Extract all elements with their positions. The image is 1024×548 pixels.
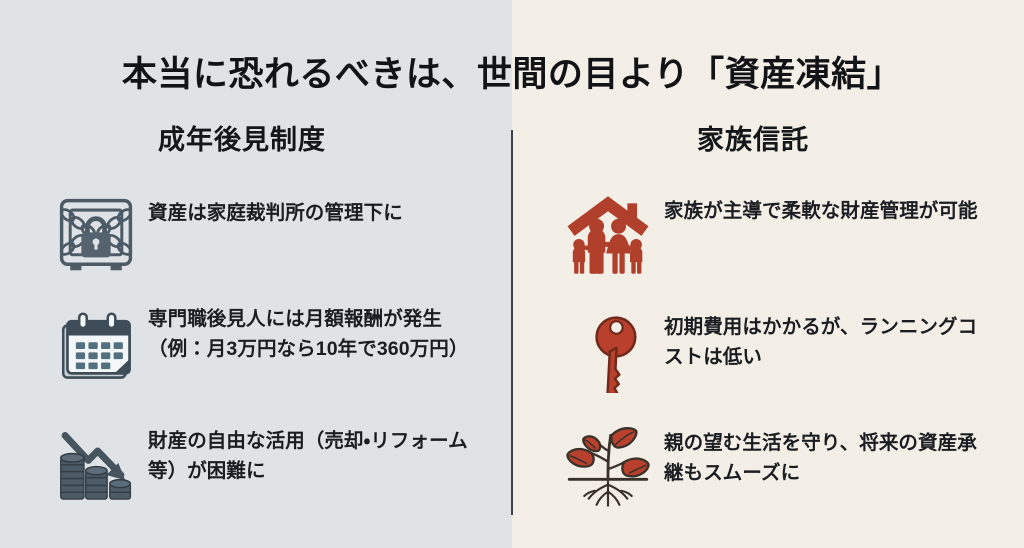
- list-item-label: 財産の自由な活用（売却・リフォーム等）が困難に: [148, 415, 486, 486]
- list-item-label: 専門職後見人には月額報酬が発生（例：月3万円なら10年で360万円）: [148, 301, 486, 364]
- column-divider: [511, 130, 513, 515]
- list-item: 家族が主導で柔軟な財産管理が可能: [552, 187, 994, 283]
- list-item-label: 家族が主導で柔軟な財産管理が可能: [664, 187, 994, 227]
- list-item: 専門職後見人には月額報酬が発生（例：月3万円なら10年で360万円）: [44, 301, 486, 397]
- safe-with-chains-and-padlock-icon: [44, 187, 148, 283]
- right-column-heading: 家族信託: [512, 118, 1024, 157]
- left-column-heading: 成年後見制度: [0, 118, 512, 157]
- growing-plant-with-roots-icon: [552, 419, 664, 515]
- comparison-slide: 本当に恐れるべきは、世間の目より「資産凍結」 成年後見制度: [0, 0, 1024, 548]
- key-icon: [552, 303, 664, 399]
- left-column: 成年後見制度: [0, 118, 512, 548]
- key-icon-item: 初期費用はかかるが、ランニングコストは低い: [552, 303, 994, 399]
- list-item-label: 資産は家庭裁判所の管理下に: [148, 187, 486, 229]
- list-item-label: 親の望む生活を守り、将来の資産承継もスムーズに: [664, 419, 994, 488]
- list-item: 親の望む生活を守り、将来の資産承継もスムーズに: [552, 419, 994, 515]
- calendar-icon: [44, 301, 148, 397]
- right-column: 家族信託: [512, 118, 1024, 548]
- family-under-roof-icon: [552, 187, 664, 283]
- left-item-list: 資産は家庭裁判所の管理下に: [0, 187, 512, 511]
- page-title: 本当に恐れるべきは、世間の目より「資産凍結」: [0, 46, 1024, 97]
- right-item-list: 家族が主導で柔軟な財産管理が可能 初期費用はかかるが、ランニングコストは: [512, 187, 1024, 515]
- declining-coins-chart-icon: [44, 415, 148, 511]
- list-item: 資産は家庭裁判所の管理下に: [44, 187, 486, 283]
- list-item-label: 初期費用はかかるが、ランニングコストは低い: [664, 303, 994, 372]
- list-item: 財産の自由な活用（売却・リフォーム等）が困難に: [44, 415, 486, 511]
